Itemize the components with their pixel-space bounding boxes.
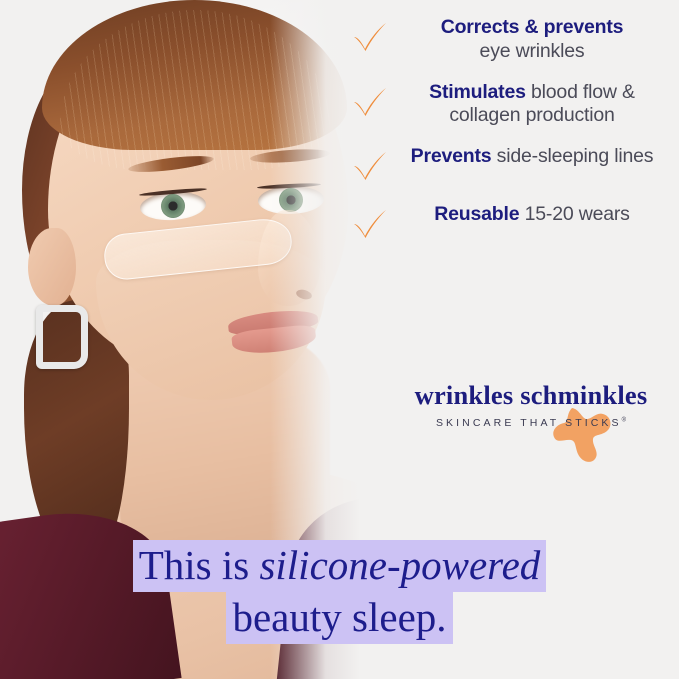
headline-prefix: This is <box>139 542 260 588</box>
headline-line-2-text: beauty sleep. <box>226 592 452 644</box>
benefit-lead: Reusable <box>434 203 519 225</box>
benefit-item: Reusable 15-20 wears <box>352 203 672 244</box>
benefit-text: Reusable 15-20 wears <box>392 203 672 227</box>
model-ear <box>28 228 76 306</box>
brand-logo: wrinkles schminkles SKINCARE THAT STICKS… <box>400 382 662 429</box>
orange-check-icon <box>352 145 392 186</box>
orange-check-icon <box>352 81 392 122</box>
benefit-item: Corrects & prevents eye wrinkles <box>352 16 672 64</box>
orange-check-icon <box>352 16 392 57</box>
logo-tagline-text: SKINCARE THAT STICKS <box>436 417 622 429</box>
logo-wordmark: wrinkles schminkles <box>400 382 662 409</box>
benefit-rest: eye wrinkles <box>480 40 585 62</box>
hoop-earring <box>36 305 88 369</box>
orange-blob-icon <box>552 404 616 464</box>
benefit-text: Corrects & prevents eye wrinkles <box>392 16 672 64</box>
benefit-lead: Corrects & prevents <box>441 16 624 38</box>
benefit-text: Stimulates blood flow & collagen product… <box>392 81 672 129</box>
registered-trademark-icon: ® <box>622 417 626 423</box>
product-ad-canvas: Corrects & prevents eye wrinkles Stimula… <box>0 0 679 679</box>
benefits-list: Corrects & prevents eye wrinkles Stimula… <box>352 16 672 261</box>
headline-italic: silicone-powered <box>259 542 540 588</box>
benefit-text: Prevents side-sleeping lines <box>392 145 672 169</box>
benefit-item: Stimulates blood flow & collagen product… <box>352 81 672 129</box>
benefit-lead: Prevents <box>411 145 492 167</box>
headline-banner: This is silicone-powered beauty sleep. <box>0 540 679 643</box>
benefit-item: Prevents side-sleeping lines <box>352 145 672 186</box>
logo-tagline: SKINCARE THAT STICKS® <box>400 417 662 429</box>
headline-line-1: This is silicone-powered <box>0 540 679 592</box>
benefit-rest: 15-20 wears <box>525 203 630 225</box>
orange-check-icon <box>352 203 392 244</box>
benefit-lead: Stimulates <box>429 81 526 103</box>
benefit-rest: side-sleeping lines <box>497 145 654 167</box>
headline-line-2: beauty sleep. <box>0 592 679 644</box>
iris-left <box>160 193 186 219</box>
